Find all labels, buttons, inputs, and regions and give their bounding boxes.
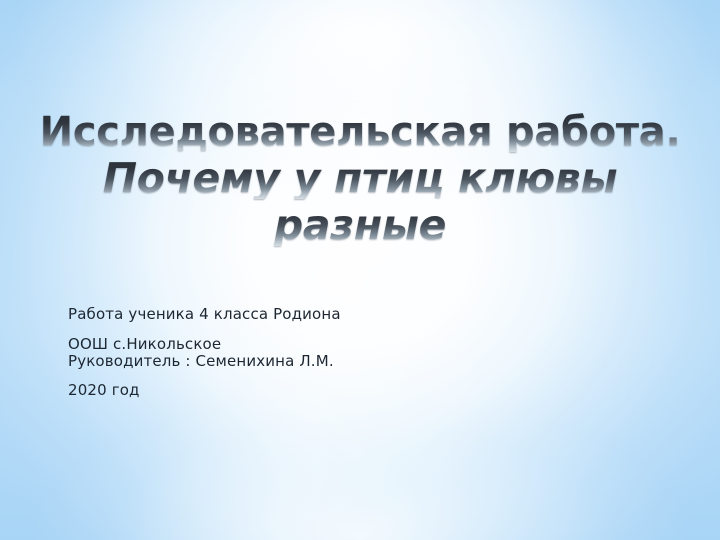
title-line-3: разные: [0, 205, 720, 246]
title-line-2-wrap: Почему у птиц клювы Почему у птиц клювы: [0, 158, 720, 205]
slide-background-bottom-glow: [0, 0, 720, 540]
slide-background-center-glow: [0, 0, 720, 540]
slide-background-sheen: [0, 0, 720, 540]
title-line-3-wrap: разные разные: [0, 205, 720, 252]
slide-subtitle: Работа ученика 4 класса Родиона ООШ с.Ни…: [68, 306, 628, 399]
subtitle-school-line: ООШ с.Никольское: [68, 336, 628, 353]
slide-title: Исследовательская работа. Исследовательс…: [0, 112, 720, 252]
subtitle-year-line: 2020 год: [68, 382, 628, 399]
presentation-slide: Исследовательская работа. Исследовательс…: [0, 0, 720, 540]
slide-background-top-glow: [0, 0, 720, 540]
title-line-2: Почему у птиц клювы: [0, 158, 720, 199]
subtitle-author-line: Работа ученика 4 класса Родиона: [68, 306, 628, 323]
subtitle-supervisor-line: Руководитель : Семенихина Л.М.: [68, 353, 628, 370]
subtitle-school-block: ООШ с.Никольское Руководитель : Семенихи…: [68, 336, 628, 370]
title-line-1: Исследовательская работа.: [0, 112, 720, 152]
slide-background-gradient: [0, 0, 720, 540]
title-line-1-wrap: Исследовательская работа. Исследовательс…: [0, 112, 720, 158]
